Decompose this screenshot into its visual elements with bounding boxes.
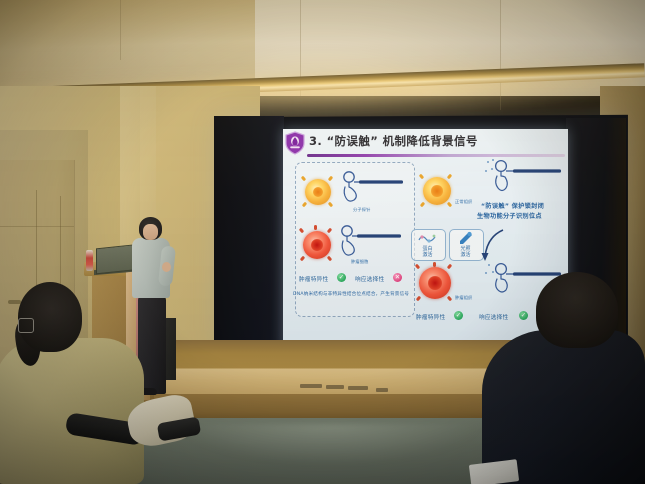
dna-probe-structure-bottom <box>333 223 407 261</box>
check-icon: ✓ <box>337 273 346 282</box>
cell-spike <box>447 264 453 270</box>
right-headline-line1: “防误触” 保护锁封闭 <box>481 201 544 210</box>
protein-icon <box>417 232 438 245</box>
presenter-face <box>143 224 158 240</box>
cell-spike <box>447 174 453 180</box>
stage-mark <box>326 385 344 389</box>
cell-spike <box>415 264 421 270</box>
cell-spike <box>420 202 426 208</box>
left-mark-label-1: 响应选择性 <box>355 275 384 283</box>
left-mark-label-0: 肿瘤特异性 <box>299 275 328 283</box>
tumor-cell-label: 肿瘤组织 <box>455 295 473 301</box>
slide-title: 3. “防误触” 机制降低背景信号 <box>309 133 566 149</box>
water-bottle <box>86 250 93 271</box>
cell-orange-top <box>305 179 331 205</box>
attendee-left-head <box>18 282 82 352</box>
probe-label-top: 分子探针 <box>353 207 371 213</box>
activation-label-light-2: 激活 <box>449 252 482 258</box>
check-icon: ✓ <box>454 311 463 320</box>
cell-red-tumor <box>419 267 451 299</box>
door-handle <box>8 300 21 304</box>
left-panel-caption: DNA纳米结构与非特异性结合位点结合，产生背景信号 <box>293 291 409 297</box>
cell-spike <box>447 296 453 302</box>
presenter-hand <box>162 262 171 272</box>
floor-light-reflection <box>180 424 480 464</box>
probe-label-bottom: 肿瘤细胞 <box>351 259 369 265</box>
light-beam-icon <box>457 231 473 246</box>
stage-mark <box>376 388 388 392</box>
check-icon: ✓ <box>519 311 528 320</box>
locked-probe-structure <box>479 157 565 199</box>
activation-label-protein-2: 激活 <box>411 252 444 258</box>
ceiling-seam <box>120 0 121 60</box>
cell-red-left <box>303 231 331 259</box>
stage-floor-markings <box>300 384 390 390</box>
screen-bezel-left <box>214 116 284 352</box>
glasses-icon <box>18 318 34 333</box>
cell-spike <box>419 174 425 180</box>
right-mark-label-0: 肿瘤特异性 <box>416 313 445 321</box>
cell-spike <box>314 225 317 230</box>
door-seam-horizontal <box>0 226 74 227</box>
normal-cell-label: 正常组织 <box>455 199 473 205</box>
cell-spike <box>447 202 453 208</box>
cell-orange-normal <box>423 177 451 205</box>
lecture-hall-photo: 3. “防误触” 机制降低背景信号 分子探针 肿瘤细胞 <box>0 0 645 484</box>
presentation-slide: 3. “防误触” 机制降低背景信号 分子探针 肿瘤细胞 <box>283 129 568 349</box>
dna-probe-structure-top <box>335 169 409 209</box>
attendee-right-head <box>536 272 618 348</box>
right-headline-line2: 生物功能分子识别位点 <box>477 211 542 220</box>
stage-mark <box>348 386 368 390</box>
cross-icon: ✕ <box>393 273 402 282</box>
stage-mark <box>300 384 322 388</box>
purple-shield-logo <box>285 131 305 155</box>
cell-spike <box>416 296 422 302</box>
right-mark-label-1: 响应选择性 <box>479 313 508 321</box>
cell-spike <box>433 262 436 267</box>
